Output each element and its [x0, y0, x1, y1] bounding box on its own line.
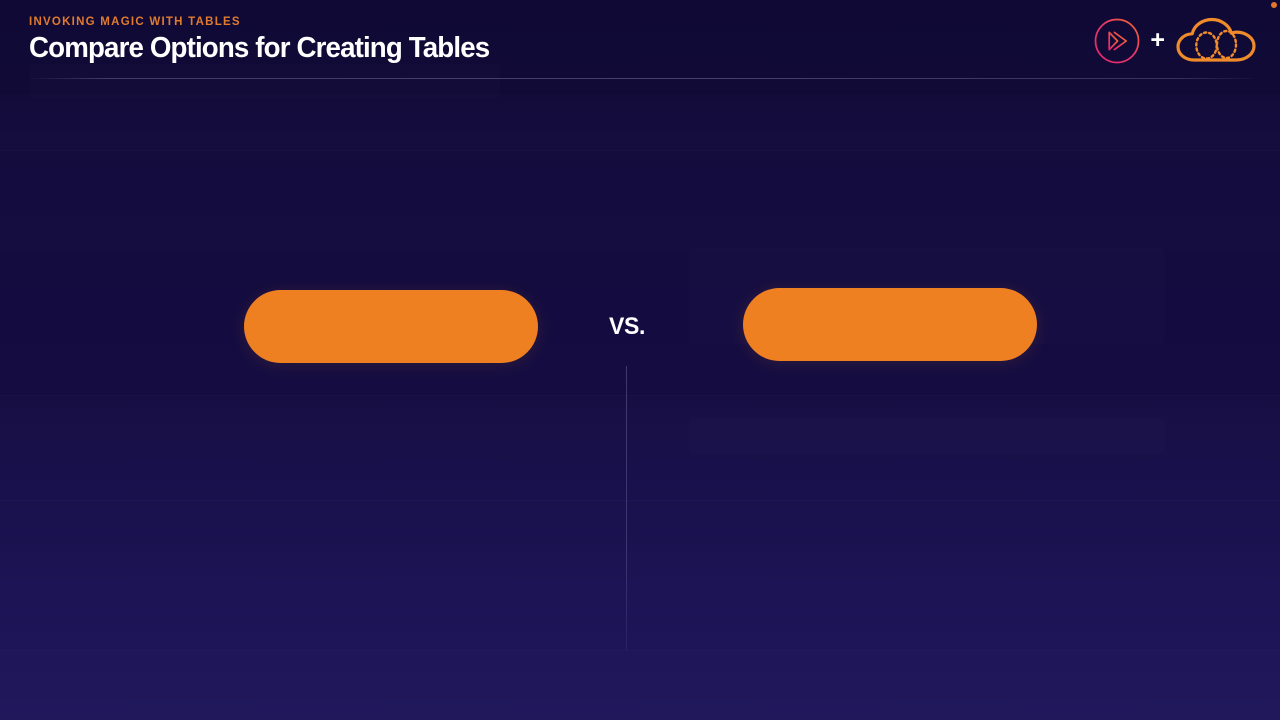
cloud-icon — [1174, 16, 1258, 66]
eyebrow-kicker: INVOKING MAGIC WITH TABLES — [29, 16, 241, 28]
header-divider — [30, 78, 1252, 79]
page-title: Compare Options for Creating Tables — [29, 32, 489, 65]
column-divider — [626, 366, 627, 650]
comparison-option-right[interactable] — [743, 288, 1037, 361]
plus-icon: + — [1150, 28, 1165, 53]
background-panel — [690, 418, 1165, 454]
comparison-option-left[interactable] — [244, 290, 538, 363]
background-band — [0, 395, 1280, 500]
background-band — [0, 95, 1280, 150]
background-band — [0, 150, 1280, 250]
background-band — [0, 500, 1280, 650]
background-hairline — [0, 500, 1280, 501]
versus-label: VS. — [608, 313, 646, 341]
play-circle-icon — [1093, 17, 1141, 65]
slide-header: INVOKING MAGIC WITH TABLES Compare Optio… — [0, 0, 1280, 95]
background-hairline — [0, 150, 1280, 151]
background-hairline — [0, 650, 1280, 651]
slide-canvas: INVOKING MAGIC WITH TABLES Compare Optio… — [0, 0, 1280, 720]
logo-lockup: + — [1093, 16, 1258, 66]
background-band — [0, 650, 1280, 720]
background-hairline — [0, 395, 1280, 396]
